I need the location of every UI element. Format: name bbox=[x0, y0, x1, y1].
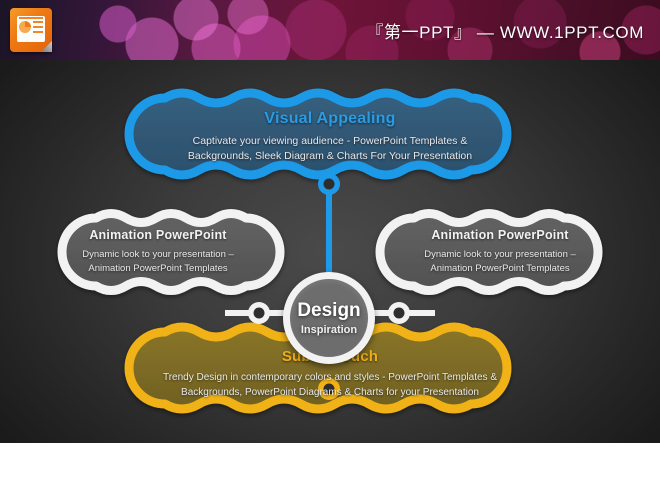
powerpoint-icon bbox=[10, 8, 52, 52]
node-right-title: Animation PowerPoint bbox=[410, 228, 590, 242]
slide-canvas: 『第一PPT』 — WWW.1PPT.COM bbox=[0, 0, 660, 495]
node-left[interactable]: Animation PowerPoint Dynamic look to you… bbox=[68, 228, 248, 276]
node-top-body: Captivate your viewing audience - PowerP… bbox=[150, 134, 510, 164]
node-right-body: Dynamic look to your presentation – Anim… bbox=[410, 248, 590, 276]
diagram-area: Visual Appealing Captivate your viewing … bbox=[0, 60, 660, 443]
node-left-title: Animation PowerPoint bbox=[68, 228, 248, 242]
header-brand-title: 『第一PPT』 — WWW.1PPT.COM bbox=[366, 18, 644, 43]
center-hub[interactable]: Design Inspiration bbox=[283, 272, 375, 364]
node-top-title: Visual Appealing bbox=[150, 110, 510, 128]
node-right[interactable]: Animation PowerPoint Dynamic look to you… bbox=[410, 228, 590, 276]
node-bottom-body: Trendy Design in contemporary colors and… bbox=[150, 371, 510, 400]
hub-title: Design bbox=[290, 300, 368, 322]
footer-bar: 第一PPT HTTP://WWW.1PPT.COM bbox=[0, 443, 660, 495]
node-left-body: Dynamic look to your presentation – Anim… bbox=[68, 248, 248, 276]
node-top[interactable]: Visual Appealing Captivate your viewing … bbox=[150, 110, 510, 164]
hub-subtitle: Inspiration bbox=[290, 324, 368, 336]
header-bar: 『第一PPT』 — WWW.1PPT.COM bbox=[0, 0, 660, 60]
